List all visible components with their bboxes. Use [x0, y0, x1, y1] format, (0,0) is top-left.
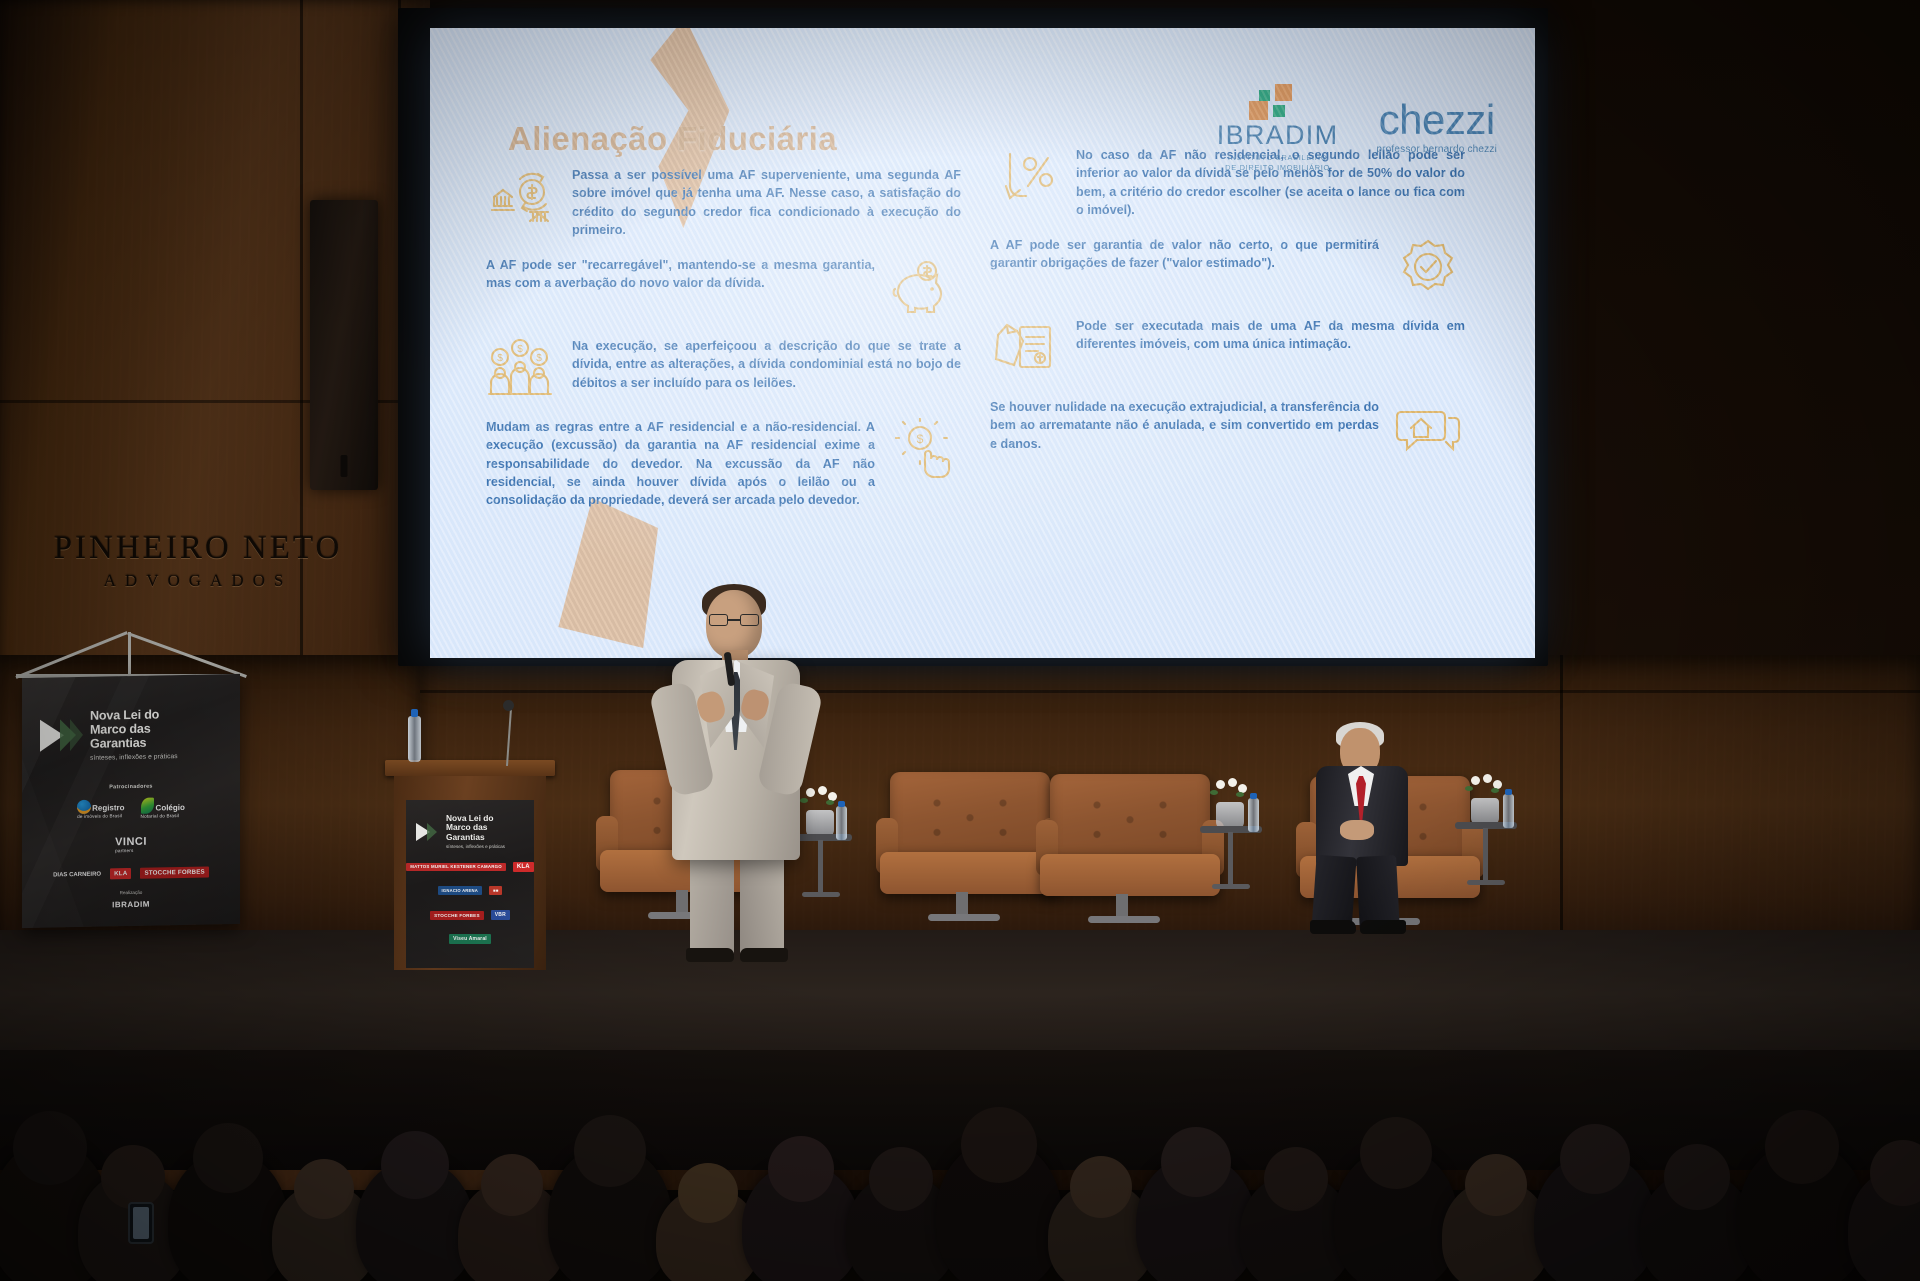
slide-bullet-left-2: A AF pode ser "recarregável", mantendo-s… [486, 256, 961, 320]
venue-wall-sign: PINHEIRO NETO ADVOGADOS [18, 530, 378, 591]
banner-sponsor-row-1: Registro de imóveis do Brasil Colégio No… [22, 796, 240, 821]
podium-top-surface [385, 760, 555, 776]
chezzi-logo: chezzi professor bernardo chezzi [1376, 86, 1497, 155]
armchair-3-seat [1040, 854, 1220, 896]
house-chat-icon [1391, 398, 1465, 462]
svg-text:$: $ [497, 353, 503, 364]
slide-bullet-left-3-text: Na execução, se aperfeiçoou a descrição … [572, 337, 961, 392]
stocche-forbes-logo-podium-a: ■■ [489, 886, 502, 895]
wall-speaker-tower [310, 200, 378, 490]
audience [0, 930, 1920, 1281]
water-bottle-left [836, 806, 847, 840]
svg-text:$: $ [517, 344, 523, 355]
water-bottle-right [1503, 794, 1514, 828]
vinci-name: VINCI [115, 836, 147, 849]
stocche-forbes-logo-podium: STOCCHE FORBES [430, 911, 484, 920]
water-bottle-mid [1248, 798, 1259, 832]
eyeglasses-icon [709, 614, 759, 626]
kla-logo: KLA [110, 868, 131, 879]
banner-pole [128, 632, 131, 680]
audience-member [1640, 1171, 1754, 1281]
slide-bullet-left-1-text: Passa a ser possível uma AF supervenient… [572, 166, 961, 239]
slide-bullet-right-4: Se houver nulidade na execução extrajudi… [990, 398, 1465, 462]
presentation-slide: Alienação Fiduciária IBRADIM INSTITUTO B… [430, 28, 1535, 658]
armchair-2-back [890, 772, 1050, 864]
wall-seam [420, 690, 1920, 693]
venue-sign-line1: PINHEIRO NETO [18, 530, 378, 567]
slide-left-column: Passa a ser possível uma AF supervenient… [486, 166, 961, 526]
slide-bullet-right-1-text: No caso da AF não residencial, o segundo… [1076, 146, 1465, 219]
colegio-notarial-logo: Colégio Notarial do Brasil [141, 797, 185, 819]
ignacio-arena-logo: IGNACIO ARENA [438, 886, 482, 895]
slide-bullet-right-4-text: Se houver nulidade na execução extrajudi… [990, 398, 1379, 453]
slide-bullet-right-3: Pode ser executada mais de uma AF da mes… [990, 317, 1465, 381]
play-triangle-icon-podium [416, 821, 440, 843]
slide-bullet-right-1: No caso da AF não residencial, o segundo… [990, 146, 1465, 219]
side-table-leg-left [818, 840, 823, 894]
audience-member [936, 1139, 1062, 1281]
slide-bullet-left-2-text: A AF pode ser "recarregável", mantendo-s… [486, 256, 875, 293]
piggy-bank-coin-icon [887, 256, 961, 320]
podium-title-line3: Garantias [446, 833, 505, 842]
slide-right-column: No caso da AF não residencial, o segundo… [990, 146, 1465, 479]
colegio-name: Colégio [156, 803, 185, 813]
registro-imoveis-logo: Registro de imóveis do Brasil [77, 799, 124, 819]
armchair-3-foot [1088, 916, 1160, 923]
podium-sponsor-row-2: IGNACIO ARENA ■■ [406, 886, 534, 895]
podium-sponsor-row-1: MATTOS MURIEL KESTENER CAMARGO KLA [406, 862, 534, 872]
banner-heading: Nova Lei do Marco das Garantias sínteses… [40, 707, 178, 762]
ibradim-mark-square-green-1 [1259, 90, 1270, 101]
podium-heading: Nova Lei do Marco das Garantias sínteses… [416, 814, 505, 849]
event-banner: Nova Lei do Marco das Garantias sínteses… [22, 674, 240, 928]
armchair-3-back [1050, 774, 1210, 866]
armchair-2 [880, 772, 1060, 932]
audience-member [1534, 1153, 1656, 1281]
ibradim-mark-square-orange-2 [1249, 101, 1268, 120]
armchair-3 [1040, 774, 1220, 934]
audience-member [168, 1151, 288, 1281]
audience-member [1136, 1155, 1256, 1281]
colegio-sub: Notarial do Brasil [141, 813, 185, 819]
slide-bullet-right-2-text: A AF pode ser garantia de valor não cert… [990, 236, 1379, 273]
svg-text:$: $ [536, 353, 542, 364]
documents-scales-icon [990, 317, 1064, 381]
vinci-sub: partners [115, 848, 147, 854]
side-table-foot-left [802, 892, 840, 897]
ibradim-mark-square-orange-1 [1275, 84, 1292, 101]
slide-title: Alienação Fiduciária [508, 120, 837, 158]
colegio-leaf-icon [141, 798, 154, 814]
side-table-leg-right [1483, 828, 1488, 882]
audience-member [742, 1163, 860, 1281]
chezzi-wordmark: chezzi [1376, 100, 1497, 140]
slide-bullet-right-2: A AF pode ser garantia de valor não cert… [990, 236, 1465, 300]
side-table-foot-right [1467, 880, 1505, 885]
venue-sign-line2: ADVOGADOS [18, 571, 378, 591]
slide-bullet-right-3-text: Pode ser executada mais de uma AF da mes… [1076, 317, 1465, 354]
armchair-2-seat [880, 852, 1060, 894]
kla-logo-podium: KLA [513, 862, 534, 872]
podium-subtitle: sínteses, inflexões e práticas [446, 844, 505, 849]
mattos-muriel-logo: MATTOS MURIEL KESTENER CAMARGO [406, 863, 506, 872]
audience-member [356, 1159, 474, 1281]
registro-sub: de imóveis do Brasil [77, 813, 124, 819]
side-table-foot-mid [1212, 884, 1250, 889]
audience-member [1738, 1141, 1866, 1281]
armchair-2-foot [928, 914, 1000, 921]
vbr-logo: VBR [491, 910, 510, 920]
side-table-leg-mid [1228, 832, 1233, 886]
podium-sponsor-row-3: STOCCHE FORBES VBR [406, 910, 534, 920]
check-badge-icon [1391, 236, 1465, 300]
bank-exchange-dollar-icon [486, 166, 560, 230]
percent-down-arrow-icon [990, 146, 1064, 210]
dias-carneiro-logo: DIAS CARNEIRO [53, 871, 101, 878]
slide-bullet-left-4-text: Mudam as regras entre a AF residencial e… [486, 418, 875, 509]
side-table-mid [1200, 782, 1262, 892]
smartphone-icon [128, 1202, 154, 1244]
panelist-hands [1340, 820, 1374, 840]
microphone-icon [503, 700, 514, 711]
people-money-icon: $ $ $ [486, 337, 560, 401]
slide-bullet-left-4: $ Mudam as regras entre a AF residencial… [486, 418, 961, 509]
audience-member [1334, 1147, 1458, 1281]
registro-dot-icon [77, 800, 91, 814]
ibradim-mark-square-green-2 [1273, 105, 1285, 117]
banner-title-line3: Garantias [90, 736, 178, 752]
hand-click-idea-icon: $ [887, 418, 961, 482]
audience-member [548, 1145, 672, 1281]
water-bottle-podium [408, 716, 421, 762]
vinci-partners-logo: VINCI partners [115, 836, 147, 854]
slide-bullet-left-3: $ $ $ Na execução, se aperfeiçoou a desc… [486, 337, 961, 401]
conference-photo: PINHEIRO NETO ADVOGADOS Alienação Fiduci… [0, 0, 1920, 1281]
svg-text:$: $ [917, 432, 924, 446]
side-table-right [1455, 778, 1517, 888]
wall-seam [1560, 655, 1563, 955]
play-triangle-icon [40, 716, 82, 755]
registro-name: Registro [92, 803, 124, 813]
stocche-forbes-logo: STOCCHE FORBES [140, 867, 208, 879]
slide-bullet-left-1: Passa a ser possível uma AF supervenient… [486, 166, 961, 239]
